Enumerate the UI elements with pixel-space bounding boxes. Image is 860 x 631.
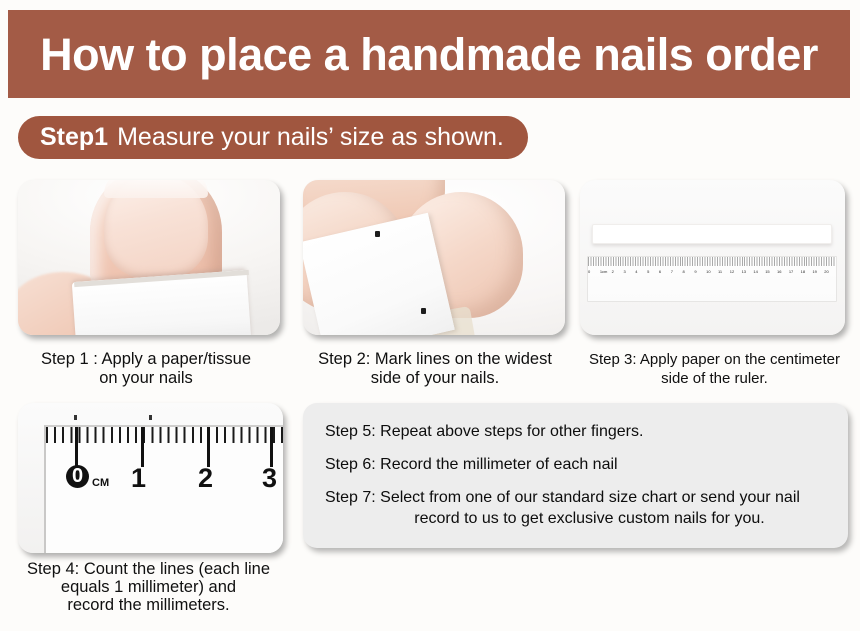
card-step3-photo: 01cm234567891011121314151617181920 [580, 180, 845, 335]
caption-step3: Step 3: Apply paper on the centimeter si… [572, 350, 857, 388]
ruler-number-13: 13 [742, 267, 754, 277]
caption-step1-line2: on your nails [6, 369, 286, 388]
ruler-number-17: 17 [789, 267, 801, 277]
ruler-tick-track [588, 257, 836, 266]
pen-mark-lower [421, 308, 426, 314]
ruler-label-3: 3 [262, 465, 277, 492]
caption-step3-line1: Step 3: Apply paper on the centimeter [572, 350, 857, 369]
step1-label-rest: Measure your nails’ size as shown. [117, 123, 504, 152]
paper-on-ruler-photo: 01cm234567891011121314151617181920 [580, 180, 845, 335]
ruler-number-20: 20 [824, 267, 836, 277]
steps-5-7-box: Step 5: Repeat above steps for other fin… [303, 403, 848, 548]
long-ruler-shape: 01cm234567891011121314151617181920 [587, 256, 837, 302]
steps-line-5: Step 5: Repeat above steps for other fin… [325, 421, 828, 442]
caption-step1: Step 1 : Apply a paper/tissue on your na… [6, 350, 286, 388]
pen-mark-upper [375, 231, 380, 237]
cm-tick-1 [141, 427, 144, 467]
caption-step2-line2: side of your nails. [295, 369, 575, 388]
ruler-number-9: 9 [694, 267, 706, 277]
ruler-label-1: 1 [131, 465, 146, 492]
cm-tick-3 [270, 427, 273, 467]
caption-step4: Step 4: Count the lines (each line equal… [6, 560, 291, 614]
nail-tip-shape [104, 180, 208, 198]
paper-mark-left [74, 415, 77, 420]
card-step1-photo [18, 180, 280, 335]
ruler-number-2: 2 [612, 267, 624, 277]
ruler-number-12: 12 [730, 267, 742, 277]
caption-step2-line1: Step 2: Mark lines on the widest [295, 350, 575, 369]
caption-step1-line1: Step 1 : Apply a paper/tissue [6, 350, 286, 369]
ruler-number-4: 4 [635, 267, 647, 277]
ruler-number-5: 5 [647, 267, 659, 277]
ruler-zero-label: 0 [66, 465, 89, 488]
steps-line-6: Step 6: Record the millimeter of each na… [325, 454, 828, 475]
ruler-cm-unit-label: CM [92, 477, 109, 489]
caption-step2: Step 2: Mark lines on the widest side of… [295, 350, 575, 388]
fingers-holding-marked-paper-photo [303, 180, 565, 335]
step1-heading-pill: Step1 Measure your nails’ size as shown. [18, 116, 528, 159]
page-title: How to place a handmade nails order [40, 32, 818, 77]
ruler-label-2: 2 [198, 465, 213, 492]
ruler-number-18: 18 [801, 267, 813, 277]
ruler-number-row: 01cm234567891011121314151617181920 [588, 267, 836, 277]
steps-line-7-cont: record to us to get exclusive custom nai… [325, 508, 828, 529]
tick-mask [46, 443, 283, 455]
steps-line-7: Step 7: Select from one of our standard … [325, 487, 828, 529]
paper-strip-shape [592, 224, 832, 244]
ruler-closeup-photo: 0 CM 1 2 3 [18, 403, 283, 553]
ruler-number-0: 0 [588, 267, 600, 277]
ruler-number-15: 15 [765, 267, 777, 277]
ruler-number-19: 19 [812, 267, 824, 277]
ruler-number-10: 10 [706, 267, 718, 277]
caption-step4-line1: Step 4: Count the lines (each line [6, 560, 291, 578]
ruler-number-1: 1cm [600, 267, 612, 277]
caption-step4-line2: equals 1 millimeter) and [6, 578, 291, 596]
caption-step3-line2: side of the ruler. [572, 369, 857, 388]
cm-tick-2 [207, 427, 210, 467]
card-step2-photo [303, 180, 565, 335]
fingertip-with-paper-photo [18, 180, 280, 335]
steps-line-7-main: Step 7: Select from one of our standard … [325, 489, 800, 506]
ruler-number-14: 14 [753, 267, 765, 277]
ruler-number-8: 8 [683, 267, 695, 277]
card-step4-photo: 0 CM 1 2 3 [18, 403, 283, 553]
ruler-number-7: 7 [671, 267, 683, 277]
ruler-number-6: 6 [659, 267, 671, 277]
caption-step4-line3: record the millimeters. [6, 596, 291, 614]
ruler-number-3: 3 [623, 267, 635, 277]
page-header-banner: How to place a handmade nails order [8, 10, 850, 98]
ruler-number-16: 16 [777, 267, 789, 277]
step1-label-strong: Step1 [40, 123, 108, 152]
cm-tick-0 [75, 427, 78, 467]
ruler-number-11: 11 [718, 267, 730, 277]
paper-mark-right [149, 415, 152, 420]
